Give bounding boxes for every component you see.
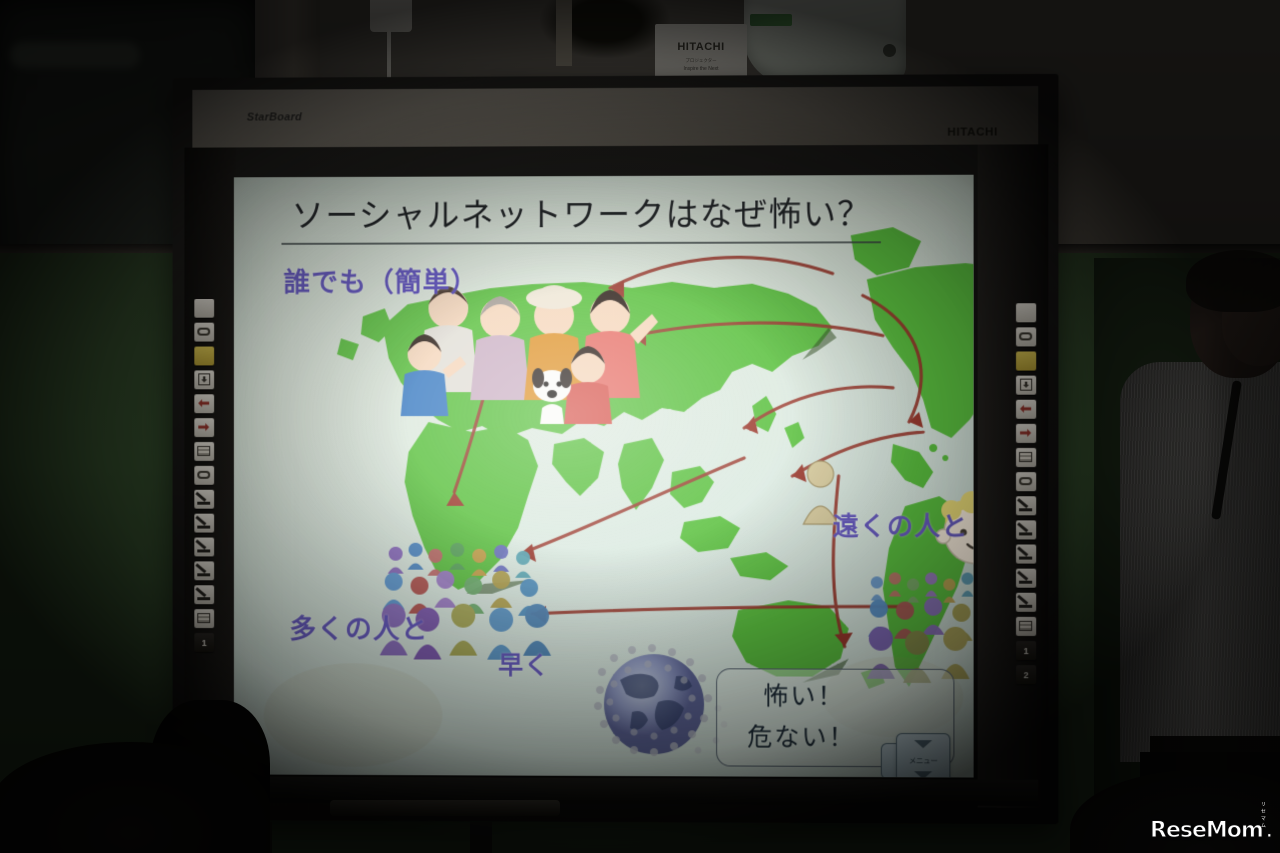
glyph	[197, 328, 210, 336]
resemom-watermark: ReseMom リセマム .	[1150, 805, 1268, 843]
pen-blue-tool-icon[interactable]	[1016, 544, 1036, 563]
save-tool-icon[interactable]	[194, 370, 214, 389]
bezel-shading	[192, 86, 1038, 148]
glyph	[197, 502, 210, 505]
glyph	[1017, 571, 1028, 581]
highlight-tool-icon[interactable]	[1016, 351, 1036, 370]
glyph	[195, 492, 206, 502]
glyph	[1020, 405, 1031, 413]
glyph	[197, 597, 210, 600]
pointer-tool-icon[interactable]	[194, 299, 214, 318]
projected-slide[interactable]: ソーシャルネットワークはなぜ怖い？ 誰でも（簡単） 遠くの人と 多くの人と 早く…	[234, 175, 974, 778]
eraser-tool-icon[interactable]	[1016, 327, 1036, 346]
page-one-button-icon[interactable]: 1	[194, 633, 214, 652]
glyph	[1019, 508, 1032, 511]
right-tool-column[interactable]: 12	[1016, 303, 1036, 684]
projector-brand-text: HITACHI	[677, 41, 724, 53]
slide-title: ソーシャルネットワークはなぜ怖い？	[291, 187, 871, 237]
glyph	[198, 423, 209, 431]
prev-page-tool-icon[interactable]	[1016, 400, 1036, 419]
projector-arm	[556, 0, 572, 66]
glyph	[1020, 304, 1031, 314]
save-tool-icon[interactable]	[1016, 376, 1036, 395]
glyph	[197, 573, 210, 576]
page-two-button-icon[interactable]: 2	[1016, 665, 1036, 684]
whiteboard-bottom-bezel	[192, 776, 1038, 806]
projector-sub-1: プロジェクター	[685, 58, 716, 64]
pen-green-tool-icon[interactable]	[1016, 569, 1036, 588]
pen-red-tool-icon[interactable]	[1016, 520, 1036, 539]
glyph	[197, 526, 210, 529]
pen-extra-tool-icon[interactable]	[1016, 593, 1036, 612]
pen-black-tool-icon[interactable]	[1016, 496, 1036, 515]
shape-tool-icon[interactable]	[194, 466, 214, 485]
projector-sub-2: Inspire the Next	[683, 66, 718, 72]
shape-tool-icon[interactable]	[1016, 472, 1036, 491]
capture-tool-icon[interactable]	[194, 442, 214, 461]
highlight-tool-icon[interactable]	[194, 347, 214, 366]
glyph	[1017, 547, 1028, 557]
pen-green-tool-icon[interactable]	[194, 561, 214, 580]
next-page-tool-icon[interactable]	[194, 418, 214, 437]
hitachi-logo: HITACHI	[947, 126, 997, 138]
right-bezel	[978, 144, 1049, 808]
page-one-button-label: 1	[1016, 641, 1036, 660]
projector-sticker	[750, 14, 792, 26]
label-fast: 早く	[498, 646, 550, 682]
callout-line-2: 危ない！	[747, 717, 856, 753]
glyph	[1019, 477, 1032, 485]
glyph	[1019, 532, 1032, 535]
pen-black-tool-icon[interactable]	[194, 490, 214, 509]
pen-blue-tool-icon[interactable]	[194, 538, 214, 557]
glyph	[1019, 621, 1032, 631]
glyph	[198, 399, 209, 407]
left-tool-column[interactable]: 1	[194, 299, 214, 652]
next-page-tool-icon[interactable]	[1016, 424, 1036, 443]
glyph	[1017, 595, 1028, 605]
glyph	[197, 446, 210, 456]
menu-up-arrow-icon[interactable]	[914, 740, 932, 748]
glyph	[1019, 605, 1032, 608]
glyph	[1019, 557, 1032, 560]
projector-lens-housing	[744, 0, 906, 84]
glyph	[195, 563, 206, 573]
label-anyone: 誰でも（簡単）	[283, 260, 478, 299]
glyph	[197, 549, 210, 552]
glyph	[195, 540, 206, 550]
watermark-dot: .	[1266, 817, 1272, 843]
pen-tray	[330, 800, 560, 816]
glyph	[1019, 332, 1032, 340]
menu-down-arrow-icon[interactable]	[914, 771, 932, 777]
classroom-scene: HITACHI プロジェクター Inspire the Next StarBoa…	[0, 0, 1280, 853]
menu-widget-label: メニュー	[897, 755, 949, 766]
glyph	[1020, 429, 1031, 437]
page-two-button-label: 2	[1016, 665, 1036, 684]
prev-page-tool-icon[interactable]	[194, 394, 214, 413]
glyph	[197, 471, 210, 479]
glyph	[1017, 498, 1028, 508]
capture-tool-icon[interactable]	[1016, 448, 1036, 467]
glyph	[195, 516, 206, 526]
callout-line-1: 怖い！	[763, 676, 844, 712]
eraser-tool-icon[interactable]	[194, 323, 214, 342]
glyph	[199, 299, 210, 309]
starboard-menu-widget[interactable]: メニュー	[896, 733, 950, 777]
layers-tool-icon[interactable]	[194, 609, 214, 628]
pen-red-tool-icon[interactable]	[194, 514, 214, 533]
glyph	[1017, 522, 1028, 532]
layers-tool-icon[interactable]	[1016, 617, 1036, 636]
glyph	[197, 613, 210, 623]
page-one-button-icon[interactable]: 1	[1016, 641, 1036, 660]
presenter-man	[1094, 258, 1280, 853]
board-stand-leg-right	[470, 822, 492, 853]
interactive-whiteboard[interactable]: StarBoard HITACHI 1 12	[173, 74, 1059, 824]
watermark-text: ReseMom	[1150, 818, 1263, 843]
glyph	[1019, 452, 1032, 462]
presenter-shadow	[1094, 258, 1280, 853]
pointer-tool-icon[interactable]	[1016, 303, 1036, 322]
label-far-people: 遠くの人と	[833, 506, 969, 543]
glyph	[195, 587, 206, 597]
wall-outlet	[370, 0, 412, 32]
label-many-people: 多くの人と	[289, 607, 428, 646]
pen-extra-tool-icon[interactable]	[194, 585, 214, 604]
page-one-button-label: 1	[194, 633, 214, 652]
glyph	[1019, 581, 1032, 584]
